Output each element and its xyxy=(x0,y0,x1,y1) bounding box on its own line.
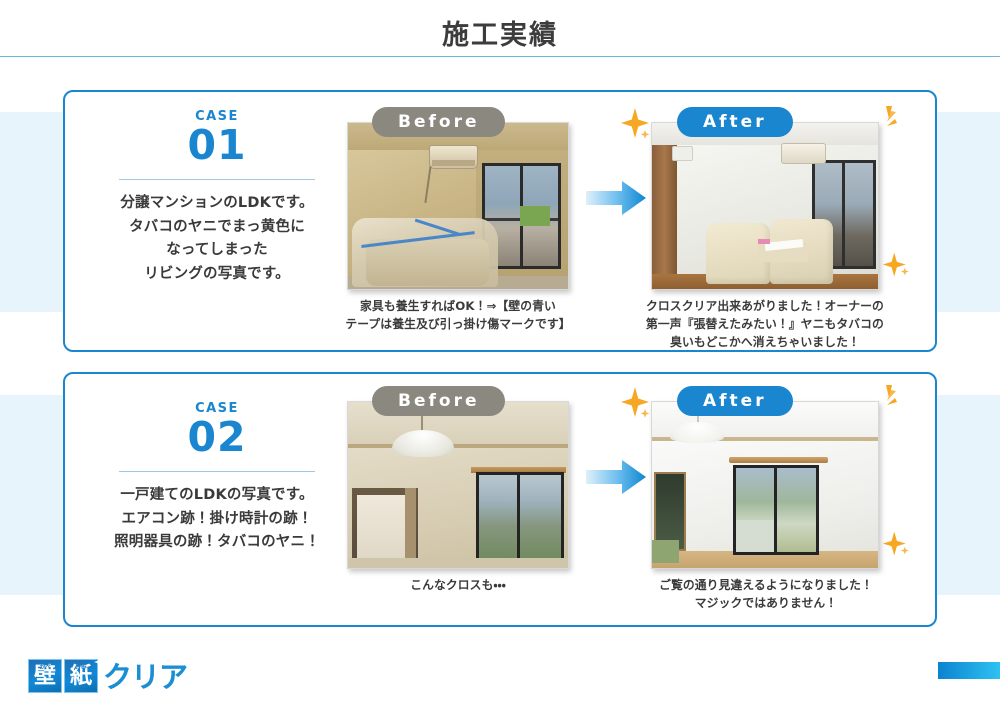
sparkle-icon-02-b xyxy=(865,381,899,415)
page-root: 施工実績 CASE 01 分譲マンションのLDKです。 タバコのヤニでまっ黄色に… xyxy=(0,0,1000,707)
after-badge-02: After xyxy=(677,386,793,416)
sparkle-icon-01-b xyxy=(865,102,899,136)
footer-accent-badge xyxy=(938,662,1000,679)
case-number-01: 01 xyxy=(83,125,351,166)
brand-logo[interactable]: かべ 壁 かみ 紙 クリア xyxy=(28,659,187,693)
header-divider xyxy=(0,56,1000,57)
before-photo-scene-01 xyxy=(348,123,568,289)
case-divider-01 xyxy=(119,179,315,180)
after-photo-scene-01 xyxy=(652,123,878,289)
case-card-02: CASE 02 一戸建てのLDKの写真です。 エアコン跡！掛け時計の跡！ 照明器… xyxy=(63,372,937,627)
sparkle-icon-02-c xyxy=(881,529,911,559)
before-badge-02: Before xyxy=(372,386,505,416)
sparkle-icon-01-a xyxy=(618,106,652,140)
before-badge-01: Before xyxy=(372,107,505,137)
case-divider-02 xyxy=(119,471,315,472)
logo-word: クリア xyxy=(103,661,187,693)
case-info-01: CASE 01 分譲マンションのLDKです。 タバコのヤニでまっ黄色に なってし… xyxy=(83,110,351,286)
logo-sparkle-icon xyxy=(92,653,110,671)
before-photo-02[interactable] xyxy=(347,401,569,569)
before-photo-01[interactable] xyxy=(347,122,569,290)
case-number-02: 02 xyxy=(83,417,351,458)
after-block-01: After クロスクリア出来あがりました！オーナーの 第一声『張替えたみたい！』… xyxy=(651,122,879,290)
after-photo-scene-02 xyxy=(652,402,878,568)
page-title: 施工実績 xyxy=(0,13,1000,52)
case-card-01: CASE 01 分譲マンションのLDKです。 タバコのヤニでまっ黄色に なってし… xyxy=(63,90,937,352)
after-photo-01[interactable] xyxy=(651,122,879,290)
after-caption-02: ご覧の通り見違えるようになりました！ マジックではありません！ xyxy=(621,577,911,613)
logo-ruby-1: かべ xyxy=(29,651,61,685)
after-caption-01: クロスクリア出来あがりました！オーナーの 第一声『張替えたみたい！』ヤニもタバコ… xyxy=(613,298,917,352)
case-description-01: 分譲マンションのLDKです。 タバコのヤニでまっ黄色に なってしまった リビング… xyxy=(83,192,351,286)
before-photo-scene-02 xyxy=(348,402,568,568)
after-block-02: After ご覧の通り見違えるようになりました！ マジックではありません！ xyxy=(651,401,879,569)
before-block-01: Before 家具も養生すればOK！⇒【壁の青い テープは養生及び引っ掛け傷マー… xyxy=(347,122,569,290)
transition-arrow-icon-02 xyxy=(586,459,646,495)
logo-kanji-box-1: かべ 壁 xyxy=(28,659,62,693)
transition-arrow-icon-01 xyxy=(586,180,646,216)
after-badge-01: After xyxy=(677,107,793,137)
before-caption-01: 家具も養生すればOK！⇒【壁の青い テープは養生及び引っ掛け傷マークです】 xyxy=(325,298,591,334)
case-description-02: 一戸建てのLDKの写真です。 エアコン跡！掛け時計の跡！ 照明器具の跡！タバコの… xyxy=(83,484,351,554)
sparkle-icon-01-c xyxy=(881,250,911,280)
page-header: 施工実績 xyxy=(0,0,1000,57)
case-info-02: CASE 02 一戸建てのLDKの写真です。 エアコン跡！掛け時計の跡！ 照明器… xyxy=(83,402,351,555)
sparkle-icon-02-a xyxy=(618,385,652,419)
after-photo-02[interactable] xyxy=(651,401,879,569)
before-caption-02: こんなクロスも・・・ xyxy=(347,577,569,595)
before-block-02: Before こんなクロスも・・・ xyxy=(347,401,569,569)
